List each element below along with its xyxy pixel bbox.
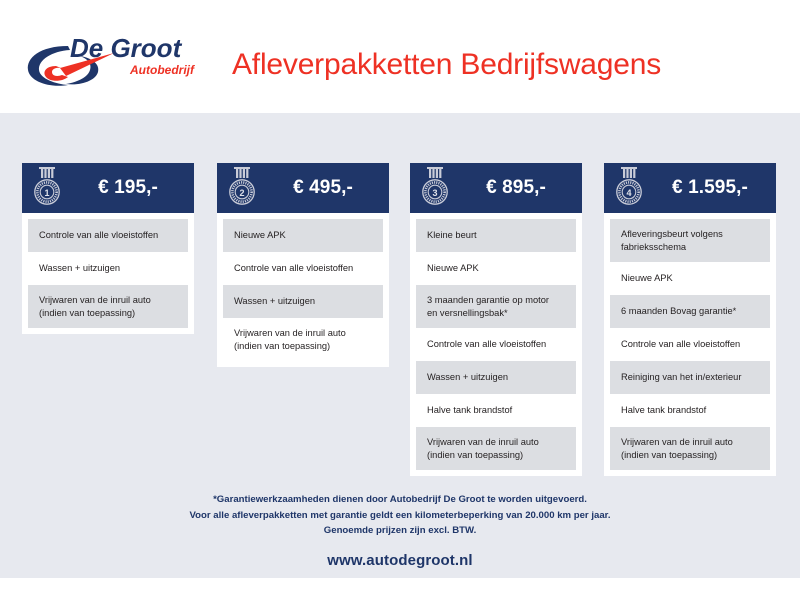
package-column-2[interactable]: 2 € 495,- Nieuwe APK Controle van alle v… <box>217 163 389 367</box>
medal-icon: 4 <box>612 166 646 208</box>
list-item: Wassen + uitzuigen <box>223 285 383 318</box>
list-item: Controle van alle vloeistoffen <box>416 328 576 361</box>
list-item: Vrijwaren van de inruil auto(indien van … <box>416 427 576 470</box>
list-item: Controle van alle vloeistoffen <box>223 252 383 285</box>
package-columns: 1 € 195,- Controle van alle vloeistoffen… <box>0 163 800 483</box>
list-item: 6 maanden Bovag garantie* <box>610 295 770 328</box>
medal-number: 2 <box>239 188 244 198</box>
footer-note-line: Voor alle afleverpakketten met garantie … <box>0 508 800 524</box>
footer-notes: *Garantiewerkzaamheden dienen door Autob… <box>0 492 800 539</box>
list-item: Reiniging van het in/exterieur <box>610 361 770 394</box>
list-item: Controle van alle vloeistoffen <box>610 328 770 361</box>
svg-text:Autobedrijf: Autobedrijf <box>129 63 195 77</box>
medal-number: 3 <box>432 188 437 198</box>
svg-text:De Groot: De Groot <box>70 33 183 63</box>
package-list-1: Controle van alle vloeistoffen Wassen + … <box>22 213 194 334</box>
package-price-3: € 895,- <box>456 177 582 199</box>
package-list-2: Nieuwe APK Controle van alle vloeistoffe… <box>217 213 389 367</box>
list-item: Vrijwaren van de inruil auto(indien van … <box>610 427 770 470</box>
package-column-1[interactable]: 1 € 195,- Controle van alle vloeistoffen… <box>22 163 194 334</box>
package-column-4[interactable]: 4 € 1.595,- Afleveringsbeurt volgensfabr… <box>604 163 776 476</box>
list-item: Controle van alle vloeistoffen <box>28 219 188 252</box>
medal-icon: 1 <box>30 166 64 208</box>
list-item: Vrijwaren van de inruil auto(indien van … <box>223 318 383 361</box>
logo-graphic: De Groot Autobedrijf <box>22 32 202 94</box>
page-title: Afleverpakketten Bedrijfswagens <box>232 48 661 82</box>
package-header-3: 3 € 895,- <box>410 163 582 213</box>
package-header-1: 1 € 195,- <box>22 163 194 213</box>
list-item: Halve tank brandstof <box>610 394 770 427</box>
footer-background <box>0 578 800 600</box>
poster-page: De Groot Autobedrijf Afleverpakketten Be… <box>0 0 800 600</box>
list-item: Vrijwaren van de inruil auto(indien van … <box>28 285 188 328</box>
medal-number: 4 <box>626 188 631 198</box>
website-link[interactable]: www.autodegroot.nl <box>0 552 800 569</box>
list-item: Nieuwe APK <box>416 252 576 285</box>
list-item: Kleine beurt <box>416 219 576 252</box>
package-price-2: € 495,- <box>263 177 389 199</box>
page-header: De Groot Autobedrijf Afleverpakketten Be… <box>0 0 800 113</box>
package-price-1: € 195,- <box>68 177 194 199</box>
medal-icon: 3 <box>418 166 452 208</box>
package-list-4: Afleveringsbeurt volgensfabrieksschema N… <box>604 213 776 476</box>
footer-note-line: *Garantiewerkzaamheden dienen door Autob… <box>0 492 800 508</box>
medal-number: 1 <box>44 188 49 198</box>
list-item: Nieuwe APK <box>610 262 770 295</box>
package-header-2: 2 € 495,- <box>217 163 389 213</box>
list-item: Wassen + uitzuigen <box>416 361 576 394</box>
package-column-3[interactable]: 3 € 895,- Kleine beurt Nieuwe APK 3 maan… <box>410 163 582 476</box>
list-item: Halve tank brandstof <box>416 394 576 427</box>
list-item: 3 maanden garantie op motoren versnellin… <box>416 285 576 328</box>
package-price-4: € 1.595,- <box>650 177 776 199</box>
list-item: Nieuwe APK <box>223 219 383 252</box>
footer-note-line: Genoemde prijzen zijn excl. BTW. <box>0 523 800 539</box>
list-item: Afleveringsbeurt volgensfabrieksschema <box>610 219 770 262</box>
de-groot-logo[interactable]: De Groot Autobedrijf <box>22 32 202 94</box>
medal-icon: 2 <box>225 166 259 208</box>
list-item: Wassen + uitzuigen <box>28 252 188 285</box>
package-header-4: 4 € 1.595,- <box>604 163 776 213</box>
package-list-3: Kleine beurt Nieuwe APK 3 maanden garant… <box>410 213 582 476</box>
